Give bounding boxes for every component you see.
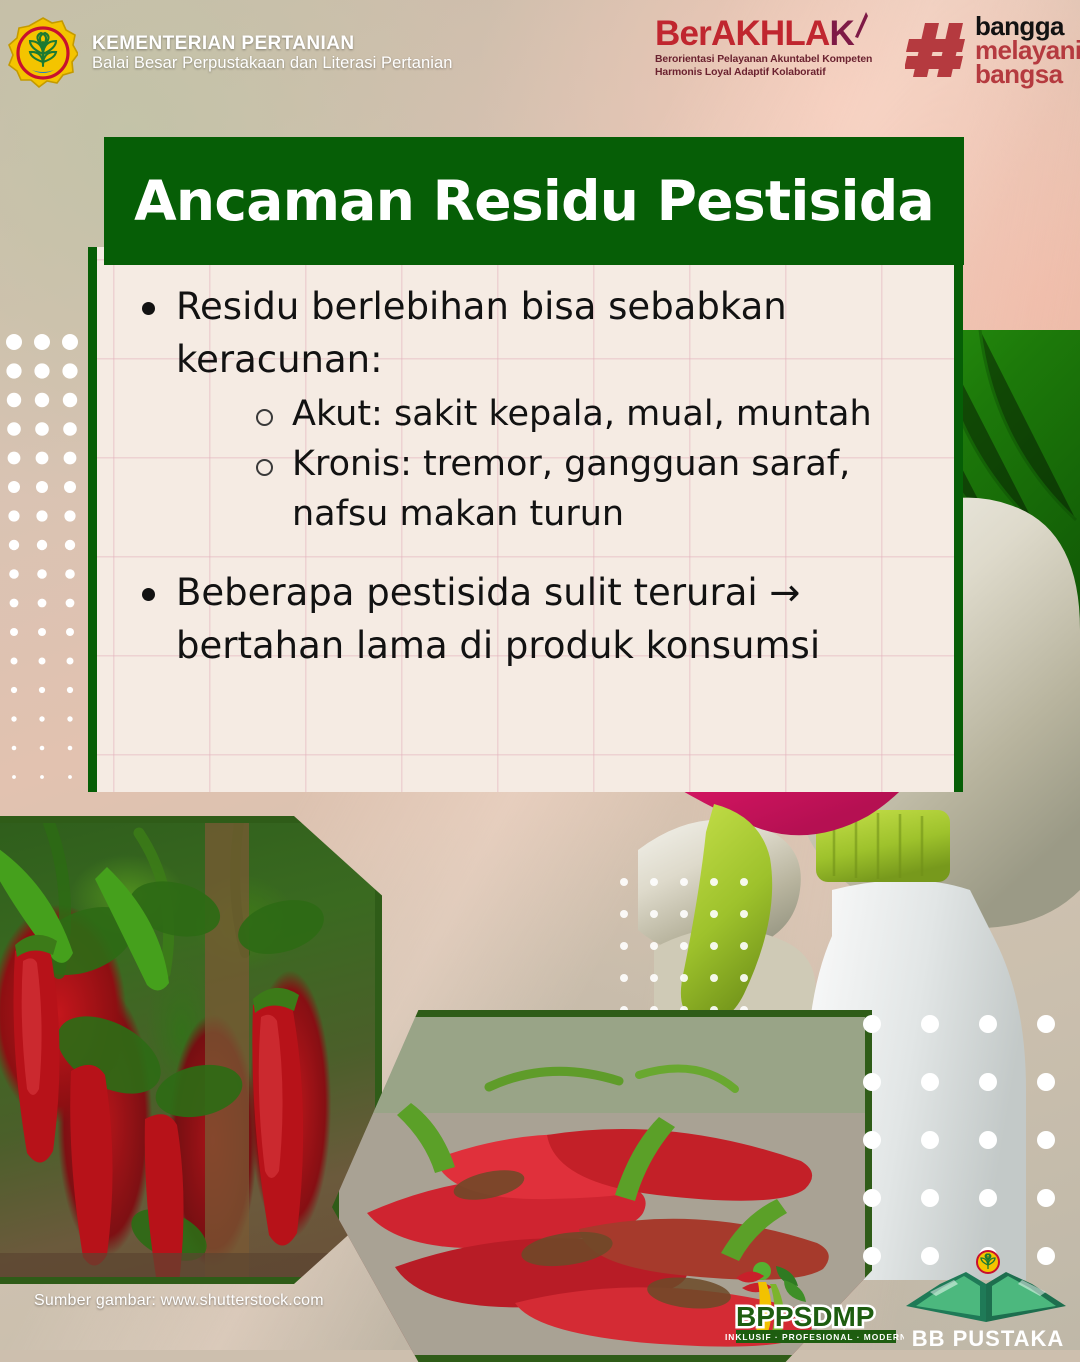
ministry-crest-small (977, 1251, 999, 1273)
title-banner: Ancaman Residu Pestisida (104, 137, 964, 265)
ministry-branding: KEMENTERIAN PERTANIAN Balai Besar Perpus… (8, 16, 453, 90)
bbpustaka-name: BB PUSTAKA (912, 1326, 1065, 1350)
berakhlak-subtitle: Berorientasi Pelayanan Akuntabel Kompete… (655, 54, 900, 79)
bullet-list-level2: Akut: sakit kepala, mual, muntah Kronis:… (248, 389, 938, 540)
berakhlak-subtitle-line1: Berorientasi Pelayanan Akuntabel Kompete… (655, 54, 900, 67)
sub-bullet-item-2: Kronis: tremor, gangguan saraf, nafsu ma… (248, 439, 938, 540)
berakhlak-tick-icon (853, 10, 868, 38)
hashtag-icon (905, 19, 967, 81)
header-bar: KEMENTERIAN PERTANIAN Balai Besar Perpus… (0, 0, 1080, 112)
bullet-item-2-text: Beberapa pestisida sulit terurai → berta… (176, 571, 820, 667)
bppsdmp-name: BPPSDMP (736, 1301, 874, 1332)
ministry-unit: Balai Besar Perpustakaan dan Literasi Pe… (92, 54, 453, 72)
bangga-line3: bangsa (975, 62, 1080, 86)
bppsdmp-logo: BPPSDMP INKLUSIF · PROFESIONAL · MODERN (714, 1258, 904, 1346)
image-source-credit: Sumber gambar: www.shutterstock.com (34, 1292, 324, 1310)
bullet-content: Residu berlebihan bisa sebabkan keracuna… (128, 280, 938, 678)
left-dot-pattern (0, 330, 88, 800)
berakhlak-logo: BerAKHLAK Berorientasi Pelayanan Akuntab… (655, 16, 900, 79)
berakhlak-wordmark-prefix: BerAKHLA (655, 14, 829, 53)
bullet-item-1-text: Residu berlebihan bisa sebabkan keracuna… (176, 285, 787, 381)
bangga-melayani-bangsa-logo: bangga melayani bangsa (905, 14, 1080, 87)
kementerian-pertanian-crest-icon (8, 16, 78, 90)
bppsdmp-tagline: INKLUSIF · PROFESIONAL · MODERN (725, 1332, 904, 1342)
berakhlak-subtitle-line2: Harmonis Loyal Adaptif Kolaboratif (655, 67, 900, 80)
right-dot-pattern (858, 1012, 1080, 1282)
chili-plant-photo (0, 816, 382, 1284)
bullet-list-level1: Residu berlebihan bisa sebabkan keracuna… (128, 280, 938, 672)
open-book-icon (906, 1272, 1066, 1322)
berakhlak-wordmark: BerAKHLAK (655, 16, 854, 51)
berakhlak-wordmark-suffix: K (829, 14, 853, 53)
sub-bullet-item-1: Akut: sakit kepala, mual, muntah (248, 389, 938, 439)
bullet-item-2: Beberapa pestisida sulit terurai → berta… (128, 566, 938, 673)
bangga-wordmark: bangga melayani bangsa (975, 14, 1080, 87)
ministry-name: KEMENTERIAN PERTANIAN (92, 33, 453, 54)
bullet-item-1: Residu berlebihan bisa sebabkan keracuna… (128, 280, 938, 540)
page-title: Ancaman Residu Pestisida (134, 169, 934, 233)
bbpustaka-logo: BB PUSTAKA (900, 1250, 1076, 1350)
